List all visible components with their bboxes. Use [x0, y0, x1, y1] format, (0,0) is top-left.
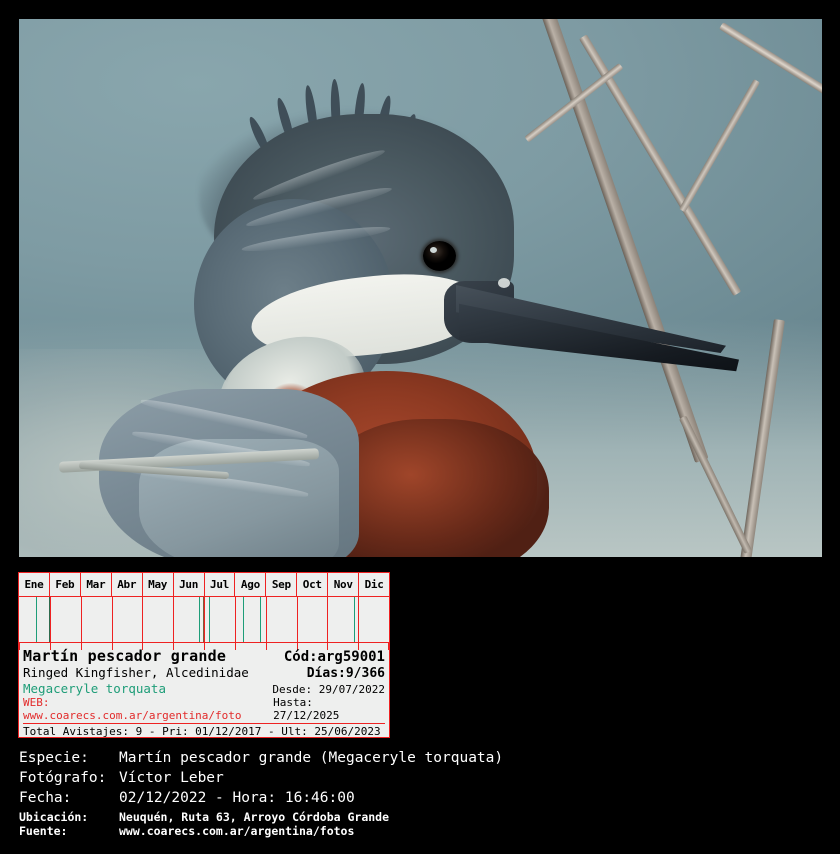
fotografo-label: Fotógrafo:	[19, 770, 119, 786]
meta-row-fotografo: Fotógrafo: Víctor Leber	[19, 770, 819, 786]
species-name-es: Martín pescador grande	[23, 647, 226, 665]
species-name-en: Ringed Kingfisher, Alcedinidae	[23, 665, 249, 680]
calendar-gridline-ago	[235, 597, 236, 642]
calendar-gridline-mar	[81, 597, 82, 642]
fotografo-value: Víctor Leber	[119, 770, 224, 786]
month-cell-dic: Dic	[359, 573, 389, 596]
ubicacion-label: Ubicación:	[19, 810, 119, 824]
photo-metadata: Especie: Martín pescador grande (Megacer…	[19, 750, 819, 838]
calendar-gridline-sep	[266, 597, 267, 642]
sighting-tick-7	[260, 597, 261, 642]
sighting-tick-3	[199, 597, 200, 642]
meta-row-especie: Especie: Martín pescador grande (Megacer…	[19, 750, 819, 766]
sighting-tick-1	[36, 597, 37, 642]
web-link[interactable]: WEB: www.coarecs.com.ar/argentina/foto	[23, 696, 273, 722]
total-sightings-line: Total Avistajes: 9 - Pri: 01/12/2017 - U…	[23, 723, 385, 738]
fuente-label: Fuente:	[19, 824, 119, 838]
species-code: Cód:arg59001	[284, 649, 385, 665]
especie-label: Especie:	[19, 750, 119, 766]
calendar-track	[19, 597, 389, 643]
calendar-gridline-may	[142, 597, 143, 642]
sighting-tick-5	[209, 597, 210, 642]
calendar-gridline-nov	[327, 597, 328, 642]
month-cell-oct: Oct	[297, 573, 328, 596]
fecha-label: Fecha:	[19, 790, 119, 806]
card-scientific-row: Megaceryle torquata Desde: 29/07/2022	[23, 681, 385, 696]
month-cell-nov: Nov	[328, 573, 359, 596]
calendar-gridline-abr	[112, 597, 113, 642]
calendar-month-header: Ene Feb Mar Abr May Jun Jul Ago Sep Oct …	[19, 573, 389, 597]
fuente-value[interactable]: www.coarecs.com.ar/argentina/fotos	[119, 824, 354, 838]
sightings-calendar: Ene Feb Mar Abr May Jun Jul Ago Sep Oct …	[19, 573, 389, 645]
calendar-gridline-jun	[173, 597, 174, 642]
calendar-gridline-oct	[297, 597, 298, 642]
card-info: Martín pescador grande Cód:arg59001 Ring…	[19, 645, 389, 738]
sighting-tick-4	[203, 597, 204, 642]
especie-value: Martín pescador grande (Megaceryle torqu…	[119, 750, 503, 766]
bird-cheek-highlight	[498, 278, 510, 288]
calendar-gridline-feb	[50, 597, 51, 642]
month-cell-abr: Abr	[112, 573, 143, 596]
month-cell-feb: Feb	[50, 573, 81, 596]
meta-row-ubicacion: Ubicación: Neuquén, Ruta 63, Arroyo Córd…	[19, 810, 819, 824]
month-cell-mar: Mar	[81, 573, 112, 596]
month-cell-jul: Jul	[205, 573, 236, 596]
species-info-card: Ene Feb Mar Abr May Jun Jul Ago Sep Oct …	[18, 572, 390, 738]
month-cell-ago: Ago	[235, 573, 266, 596]
sighting-tick-6	[243, 597, 244, 642]
month-cell-jun: Jun	[174, 573, 205, 596]
month-cell-may: May	[143, 573, 174, 596]
date-from: Desde: 29/07/2022	[272, 683, 385, 696]
ubicacion-value: Neuquén, Ruta 63, Arroyo Córdoba Grande	[119, 810, 389, 824]
calendar-gridline-dic	[358, 597, 359, 642]
card-subtitle-row: Ringed Kingfisher, Alcedinidae Días:9/36…	[23, 665, 385, 681]
fecha-value: 02/12/2022 - Hora: 16:46:00	[119, 790, 355, 806]
month-cell-ene: Ene	[19, 573, 50, 596]
card-title-row: Martín pescador grande Cód:arg59001	[23, 647, 385, 665]
days-counter: Días:9/366	[307, 666, 385, 681]
scientific-name: Megaceryle torquata	[23, 681, 166, 696]
date-to: Hasta: 27/12/2025	[273, 696, 385, 722]
sighting-tick-2	[49, 597, 50, 642]
bird-eye-highlight	[430, 247, 437, 253]
month-cell-sep: Sep	[266, 573, 297, 596]
meta-row-fuente: Fuente: www.coarecs.com.ar/argentina/fot…	[19, 824, 819, 838]
sighting-tick-8	[354, 597, 355, 642]
bird-eye	[423, 241, 456, 271]
card-web-row: WEB: www.coarecs.com.ar/argentina/foto H…	[23, 696, 385, 722]
meta-row-fecha: Fecha: 02/12/2022 - Hora: 16:46:00	[19, 790, 819, 806]
bird-photo	[19, 19, 822, 557]
